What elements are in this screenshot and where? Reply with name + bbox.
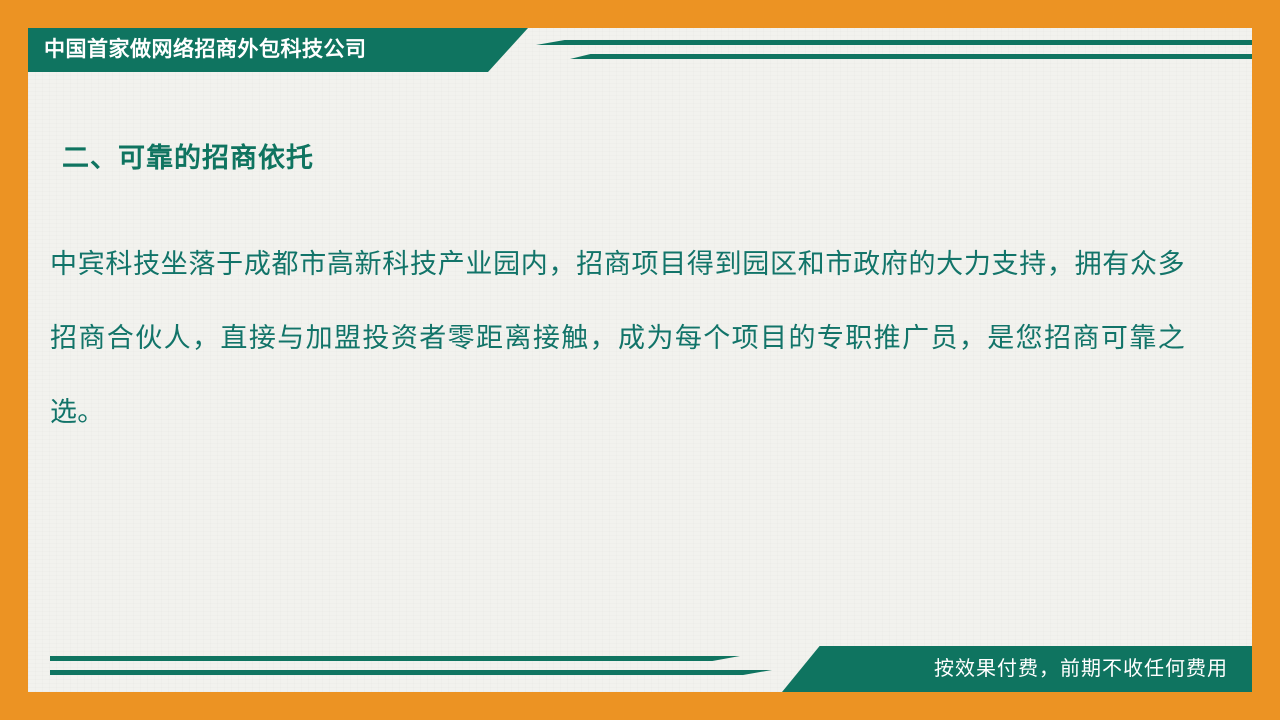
section-heading: 二、可靠的招商依托 (62, 136, 314, 175)
header-accent-line-bottom (570, 54, 1252, 59)
footer-accent-line-top (50, 656, 740, 661)
footer-accent-line-bottom (50, 670, 772, 675)
header-accent-line-top (536, 40, 1252, 45)
slide-footer: 按效果付费，前期不收任何费用 (28, 646, 1252, 692)
slide: 中国首家做网络招商外包科技公司 二、可靠的招商依托 中宾科技坐落于成都市高新科技… (0, 0, 1280, 720)
slide-header: 中国首家做网络招商外包科技公司 (28, 28, 1252, 72)
footer-tagline: 按效果付费，前期不收任何费用 (934, 646, 1228, 692)
header-title: 中国首家做网络招商外包科技公司 (44, 28, 367, 72)
body-paragraph: 中宾科技坐落于成都市高新科技产业园内，招商项目得到园区和市政府的大力支持，拥有众… (50, 228, 1185, 450)
